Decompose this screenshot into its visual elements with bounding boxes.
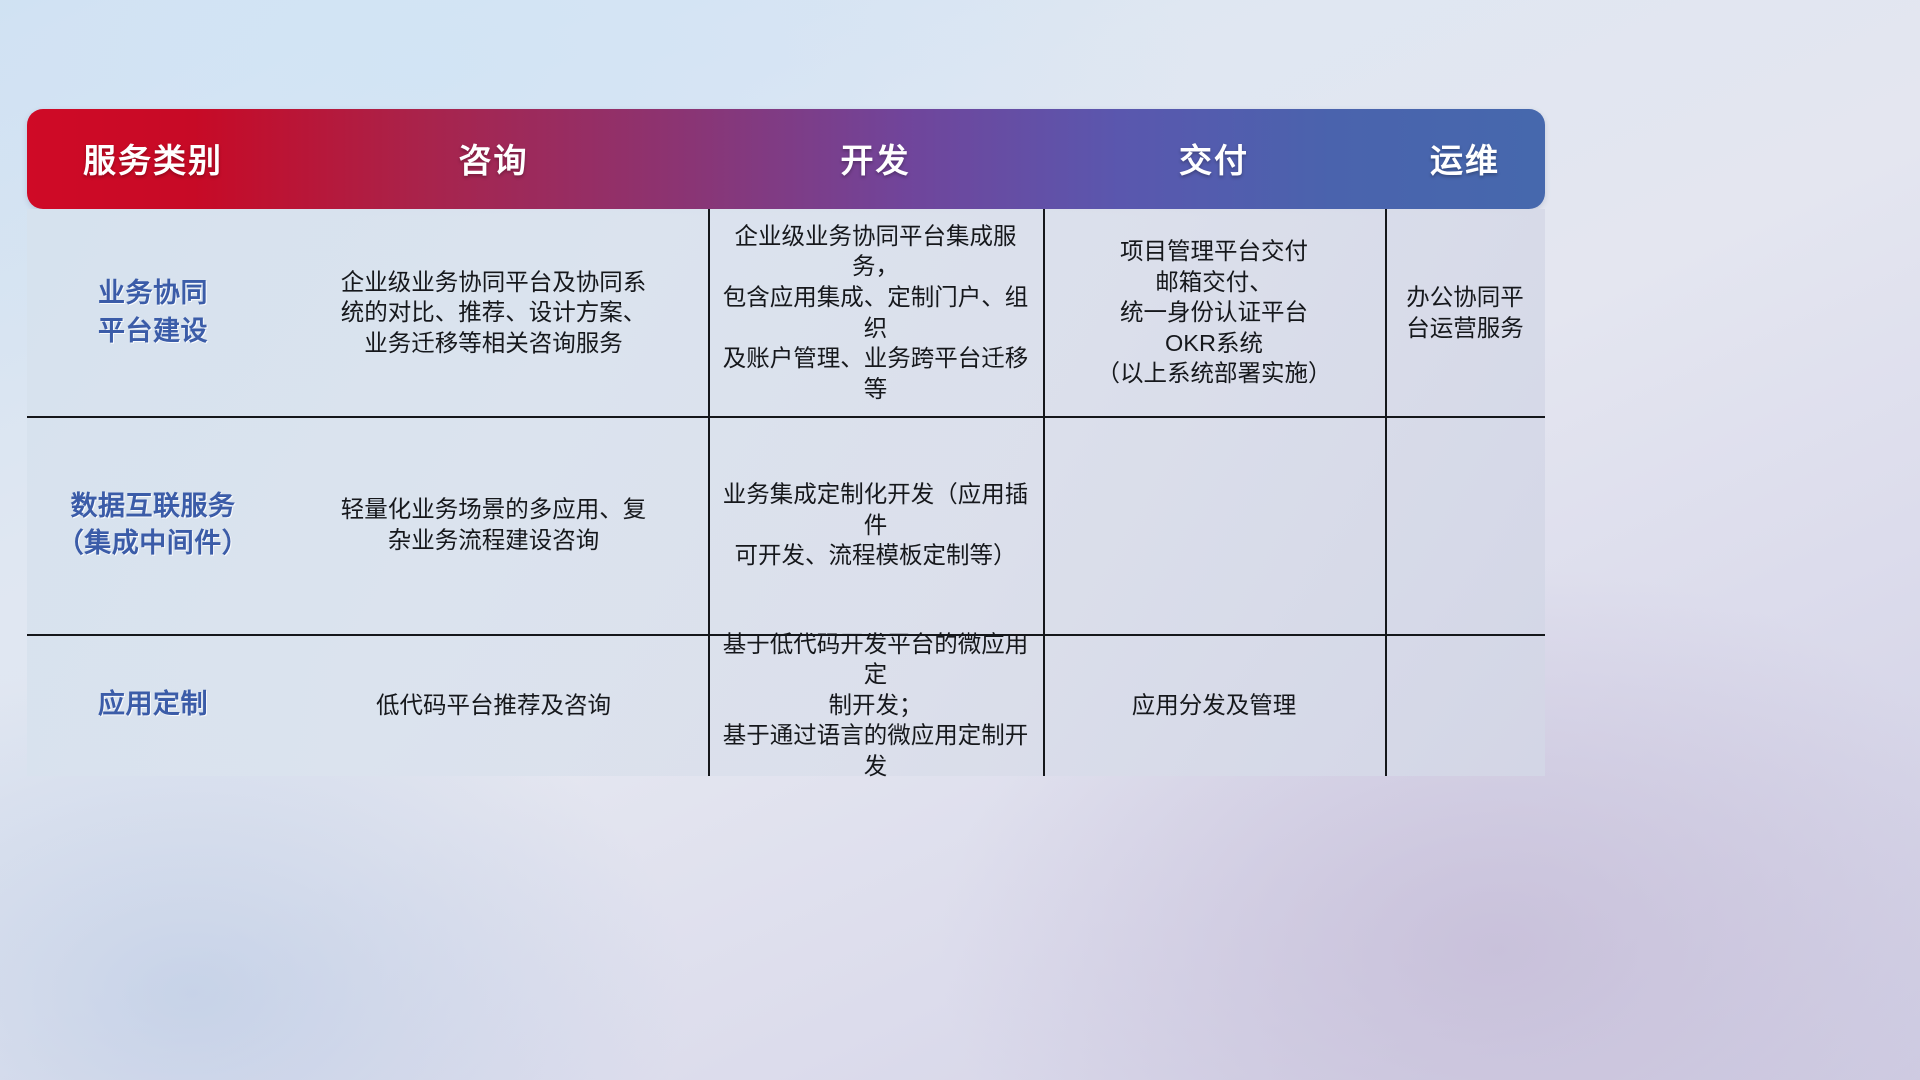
grid-vline-delivery-operations bbox=[1385, 209, 1387, 776]
row-label-app-customization: 应用定制 bbox=[27, 634, 279, 776]
service-matrix-table: 服务类别 咨询 开发 交付 运维 业务协同 平台建设 bbox=[27, 109, 1545, 776]
cell-consulting-row2: 轻量化业务场景的多应用、复 杂业务流程建设咨询 bbox=[279, 416, 708, 634]
row-label-data-integration: 数据互联服务 （集成中间件） bbox=[27, 416, 279, 634]
cell-text: 应用定制 bbox=[98, 686, 208, 723]
table-header-row: 服务类别 咨询 开发 交付 运维 bbox=[27, 109, 1545, 209]
slide-canvas: 服务类别 咨询 开发 交付 运维 业务协同 平台建设 bbox=[0, 0, 1920, 1080]
table-row: 业务协同 平台建设 企业级业务协同平台及协同系 统的对比、推荐、设计方案、 业务… bbox=[27, 209, 1545, 416]
cell-text: 低代码平台推荐及咨询 bbox=[376, 690, 611, 721]
cell-text: 轻量化业务场景的多应用、复 杂业务流程建设咨询 bbox=[341, 494, 647, 555]
row-label-business-collaboration: 业务协同 平台建设 bbox=[27, 209, 279, 416]
cell-text: 项目管理平台交付 邮箱交付、 统一身份认证平台 OKR系统 （以上系统部署实施） bbox=[1097, 236, 1332, 389]
cell-text: 数据互联服务 （集成中间件） bbox=[57, 488, 250, 563]
cell-text: 应用分发及管理 bbox=[1132, 690, 1297, 721]
cell-development-row3: 基于低代码开发平台的微应用定 制开发； 基于通过语言的微应用定制开发 bbox=[708, 634, 1043, 776]
table-row: 应用定制 低代码平台推荐及咨询 基于低代码开发平台的微应用定 制开发； 基于通过… bbox=[27, 634, 1545, 776]
header-cell-operations: 运维 bbox=[1385, 109, 1545, 209]
cell-text: 企业级业务协同平台集成服务， 包含应用集成、定制门户、组织 及账户管理、业务跨平… bbox=[722, 221, 1029, 404]
grid-hline-row2-row3 bbox=[27, 634, 1545, 636]
header-cell-consulting: 咨询 bbox=[279, 109, 708, 209]
grid-vline-consulting-development bbox=[708, 209, 710, 776]
cell-development-row2: 业务集成定制化开发（应用插件 可开发、流程模板定制等） bbox=[708, 416, 1043, 634]
table-row: 数据互联服务 （集成中间件） 轻量化业务场景的多应用、复 杂业务流程建设咨询 业… bbox=[27, 416, 1545, 634]
table-body: 业务协同 平台建设 企业级业务协同平台及协同系 统的对比、推荐、设计方案、 业务… bbox=[27, 209, 1545, 776]
cell-delivery-row1: 项目管理平台交付 邮箱交付、 统一身份认证平台 OKR系统 （以上系统部署实施） bbox=[1043, 209, 1385, 416]
cell-text: 基于低代码开发平台的微应用定 制开发； 基于通过语言的微应用定制开发 bbox=[722, 629, 1029, 782]
header-label-development: 开发 bbox=[841, 134, 911, 182]
cell-delivery-row2 bbox=[1043, 416, 1385, 634]
header-label-consulting: 咨询 bbox=[459, 134, 529, 182]
cell-delivery-row3: 应用分发及管理 bbox=[1043, 634, 1385, 776]
cell-consulting-row1: 企业级业务协同平台及协同系 统的对比、推荐、设计方案、 业务迁移等相关咨询服务 bbox=[279, 209, 708, 416]
header-cell-category: 服务类别 bbox=[27, 109, 279, 209]
cell-text: 企业级业务协同平台及协同系 统的对比、推荐、设计方案、 业务迁移等相关咨询服务 bbox=[341, 267, 647, 359]
cell-operations-row2 bbox=[1385, 416, 1545, 634]
cell-text: 业务协同 平台建设 bbox=[98, 275, 208, 350]
cell-development-row1: 企业级业务协同平台集成服务， 包含应用集成、定制门户、组织 及账户管理、业务跨平… bbox=[708, 209, 1043, 416]
cell-operations-row1: 办公协同平台运营服务 bbox=[1385, 209, 1545, 416]
cell-text: 业务集成定制化开发（应用插件 可开发、流程模板定制等） bbox=[722, 479, 1029, 571]
grid-vline-development-delivery bbox=[1043, 209, 1045, 776]
cell-text: 办公协同平台运营服务 bbox=[1399, 282, 1531, 343]
header-cell-development: 开发 bbox=[708, 109, 1043, 209]
cell-consulting-row3: 低代码平台推荐及咨询 bbox=[279, 634, 708, 776]
header-label-operations: 运维 bbox=[1430, 134, 1500, 182]
cell-operations-row3 bbox=[1385, 634, 1545, 776]
header-cell-delivery: 交付 bbox=[1043, 109, 1385, 209]
header-label-category: 服务类别 bbox=[83, 134, 223, 182]
header-label-delivery: 交付 bbox=[1179, 134, 1249, 182]
grid-hline-row1-row2 bbox=[27, 416, 1545, 418]
